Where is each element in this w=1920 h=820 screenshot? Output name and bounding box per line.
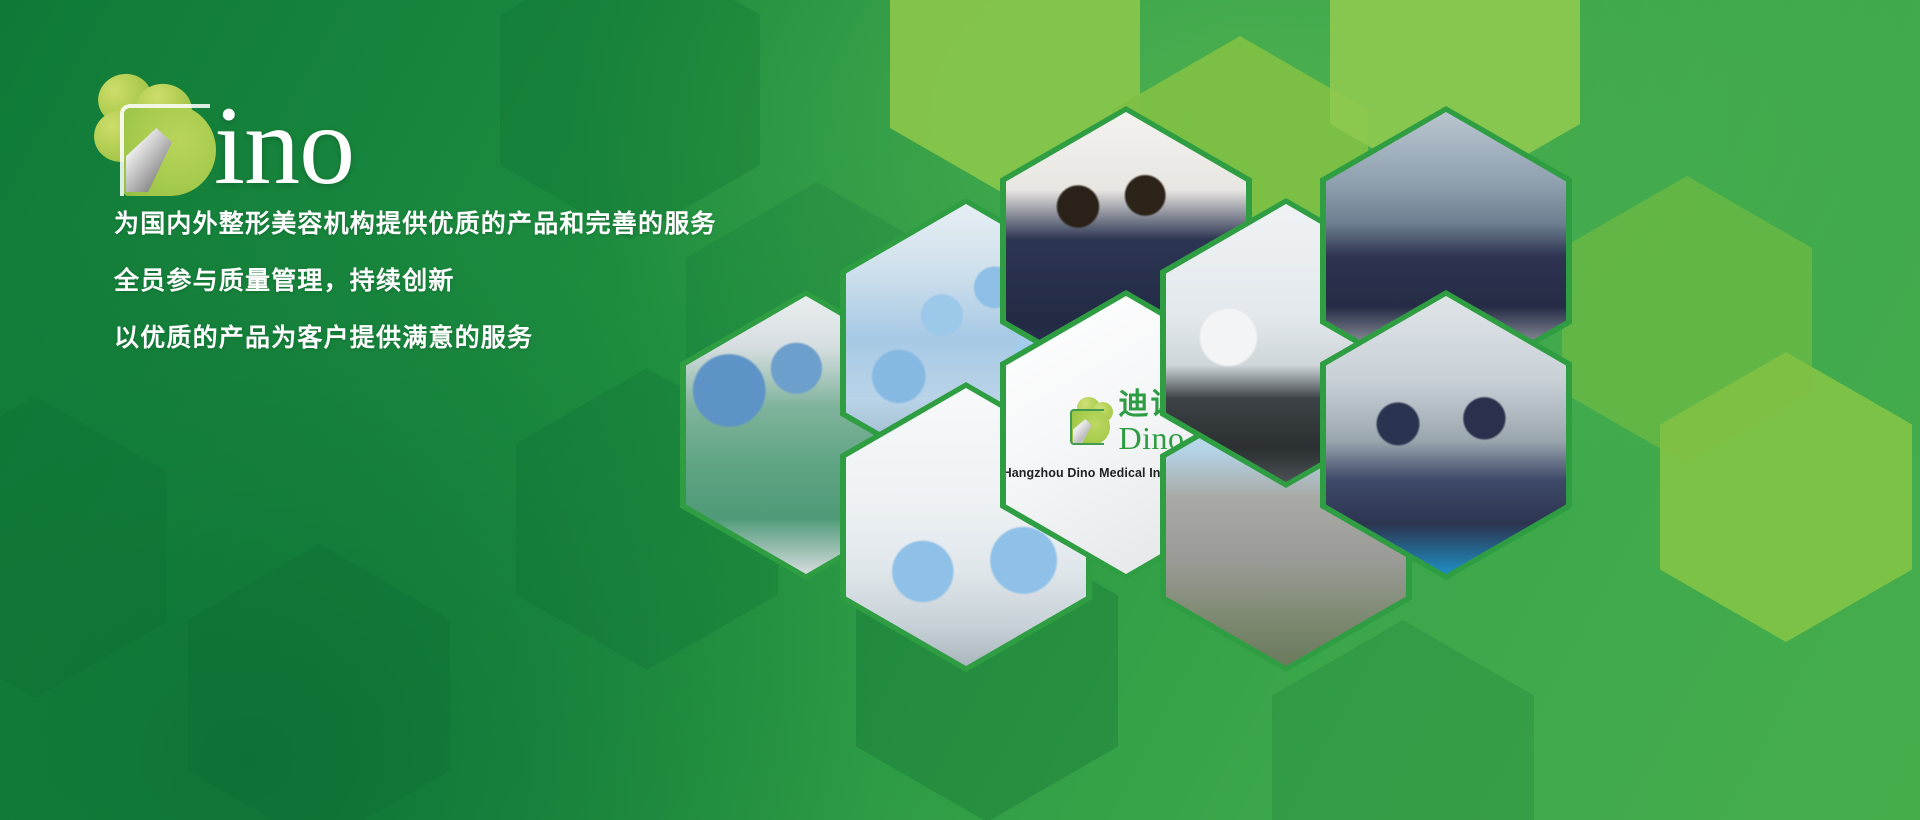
logo-wordmark: ino — [214, 90, 354, 202]
tagline-group: 为国内外整形美容机构提供优质的产品和完善的服务 全员参与质量管理，持续创新 以优… — [114, 212, 717, 383]
logo-square-frame — [120, 104, 210, 196]
dino-leaf-mark-icon — [1068, 397, 1112, 447]
brand-logo[interactable]: ino — [88, 66, 508, 191]
hexagon-photo-cluster: 迪诺 ® Dino Hangzhou Dino Medical Instrume… — [660, 100, 1920, 660]
tagline-1: 为国内外整形美容机构提供优质的产品和完善的服务 — [114, 212, 717, 237]
bg-hex-dark-4 — [0, 396, 166, 698]
hero-banner: ino 为国内外整形美容机构提供优质的产品和完善的服务 全员参与质量管理，持续创… — [0, 0, 1920, 820]
bg-hex-dark-3 — [188, 544, 450, 820]
tagline-3: 以优质的产品为客户提供满意的服务 — [114, 326, 717, 351]
tagline-2: 全员参与质量管理，持续创新 — [114, 269, 717, 294]
